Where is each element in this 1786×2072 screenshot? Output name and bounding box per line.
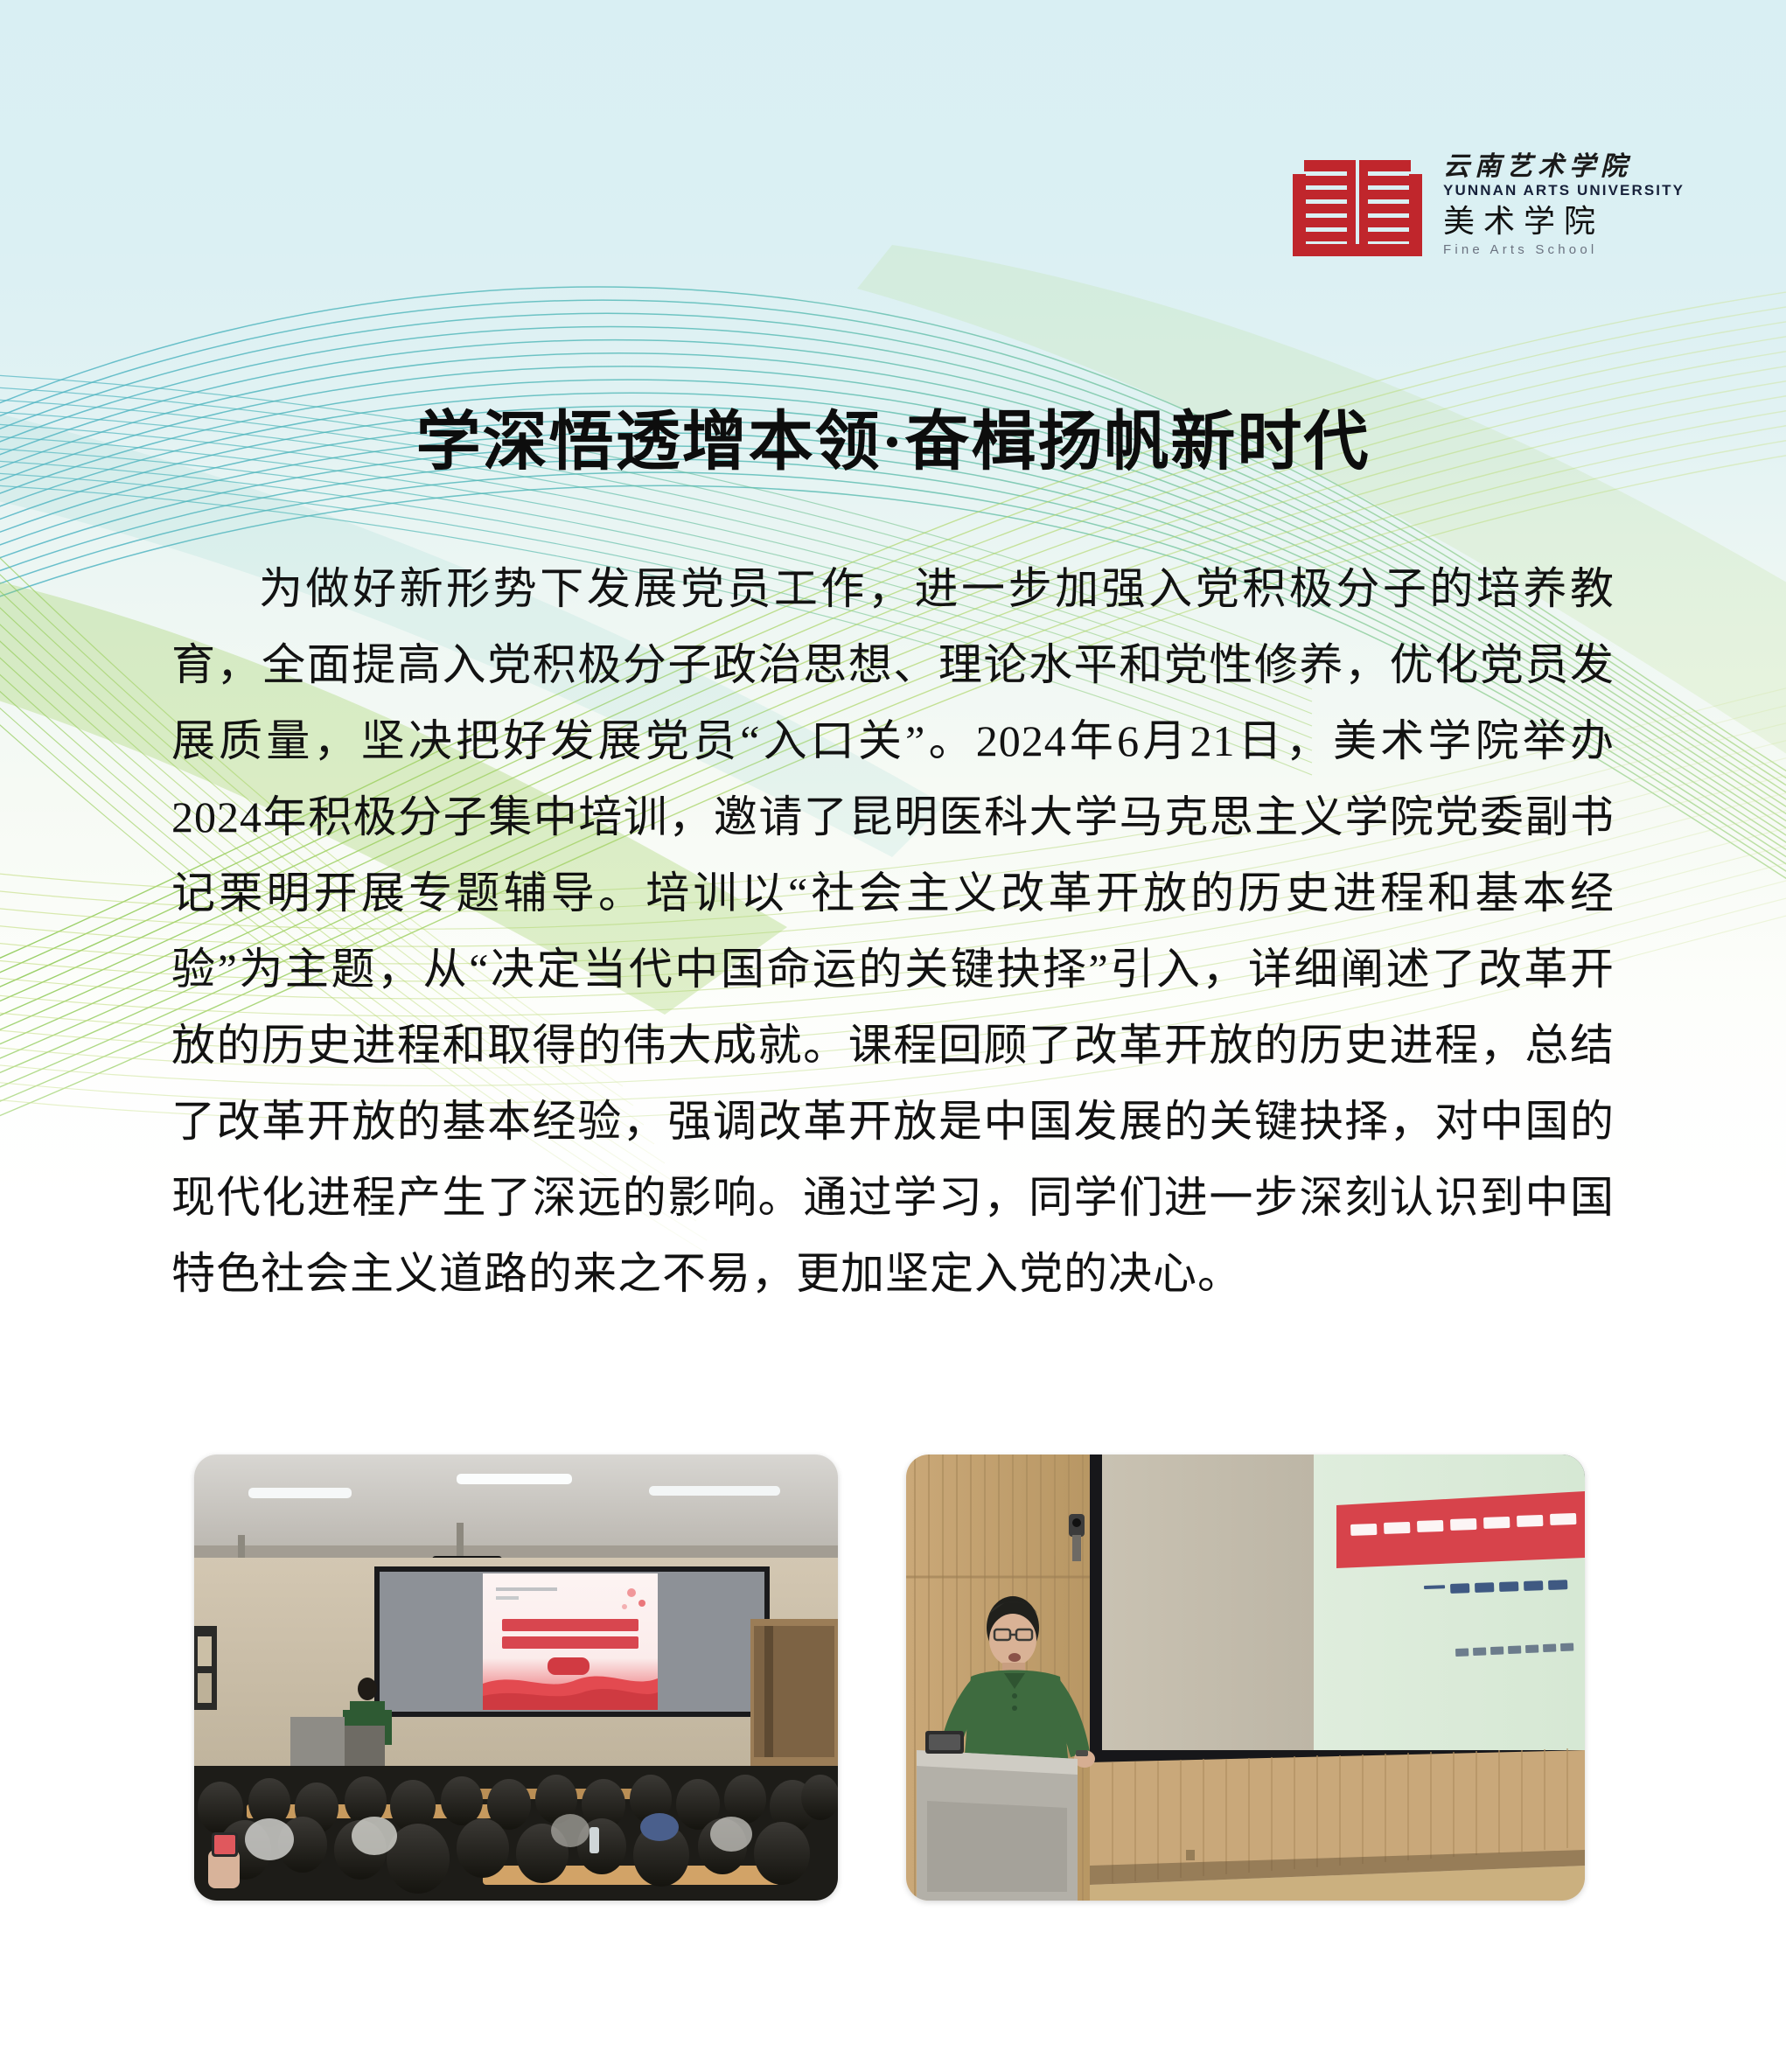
poster-page: 云南艺术学院 YUNNAN ARTS UNIVERSITY 美术学院 Fine …	[0, 0, 1786, 2072]
logo-school-cn: 美术学院	[1443, 206, 1685, 237]
university-logo: 云南艺术学院 YUNNAN ARTS UNIVERSITY 美术学院 Fine …	[1293, 153, 1685, 256]
logo-university-en: YUNNAN ARTS UNIVERSITY	[1443, 183, 1685, 198]
photo-gallery	[194, 1455, 1585, 1901]
logo-university-cn: 云南艺术学院	[1443, 154, 1685, 180]
lecture-hall-audience-photo	[194, 1455, 838, 1901]
logo-wordmark: 云南艺术学院 YUNNAN ARTS UNIVERSITY 美术学院 Fine …	[1443, 154, 1685, 256]
yunnan-arts-university-emblem-icon	[1293, 153, 1422, 256]
speaker-at-podium-photo	[906, 1455, 1585, 1901]
logo-school-en: Fine Arts School	[1443, 243, 1685, 256]
page-title: 学深悟透增本领·奋楫扬帆新时代	[0, 389, 1786, 483]
article-body: 为做好新形势下发展党员工作，进一步加强入党积极分子的培养教育，全面提高入党积极分…	[171, 551, 1615, 1312]
